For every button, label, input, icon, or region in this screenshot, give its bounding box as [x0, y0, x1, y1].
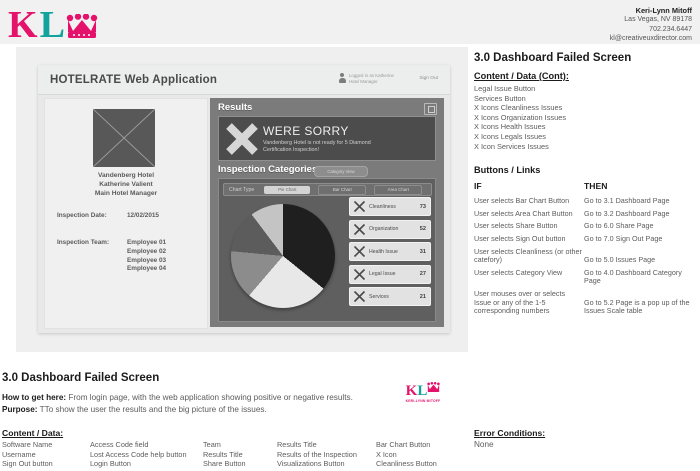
table-row: User mouses over or selects Issue or any… — [474, 290, 692, 316]
hotel-info-panel: Vandenberg Hotel Katherine Valient Main … — [44, 98, 208, 329]
x-icon — [353, 245, 366, 258]
results-title: Results — [218, 102, 252, 113]
list-item: X Icons Legals Issues — [474, 132, 692, 142]
contact-phone: 702.234.6447 — [610, 25, 692, 34]
category-label: Health Issue — [369, 249, 420, 255]
crown-icon — [66, 14, 98, 40]
list-item: Results Title — [203, 450, 273, 460]
contact-city: Las Vegas, NV 89178 — [610, 15, 692, 24]
then-cell: Go to 3.2 Dashboard Page — [584, 210, 692, 219]
how-to-get-here: How to get here: From login page, with t… — [2, 392, 353, 403]
purpose-text: TTo show the user the results and the bi… — [40, 405, 267, 414]
inspection-team-list: Employee 01 Employee 02 Employee 03 Empl… — [127, 239, 166, 274]
team-member: Employee 01 — [127, 239, 166, 248]
list-item: Bar Chart Button — [376, 440, 468, 450]
team-member: Employee 03 — [127, 257, 166, 266]
x-icon — [353, 200, 366, 213]
contact-info: Keri-Lynn Mitoff Las Vegas, NV 89178 702… — [610, 6, 692, 44]
logged-in-user: Logged in as Katherine Hotel Manager — [339, 73, 394, 84]
pie-chart-button[interactable]: Pie Chart — [264, 186, 310, 194]
table-row: User selects Sign Out button Go to 7.0 S… — [474, 235, 692, 244]
category-view-button[interactable]: Category View — [314, 166, 368, 177]
person-icon — [339, 73, 346, 84]
content-column-4: Results Title Results of the Inspection … — [277, 440, 373, 469]
contact-name: Keri-Lynn Mitoff — [610, 6, 692, 15]
if-cell: User selects Area Chart Button — [474, 210, 584, 219]
x-icon — [353, 268, 366, 281]
category-value: 52 — [420, 226, 426, 232]
list-item: Login Button — [90, 459, 194, 469]
category-value: 73 — [420, 204, 426, 210]
then-cell: Go to 5.2 Page is a pop up of the Issues… — [584, 299, 692, 316]
list-item: Share Button — [203, 459, 273, 469]
if-cell: User selects Share Button — [474, 222, 584, 231]
bottom-heading: 3.0 Dashboard Failed Screen — [2, 372, 159, 384]
category-label: Services — [369, 294, 420, 300]
spec-heading: 3.0 Dashboard Failed Screen — [474, 52, 692, 64]
purpose-line: Purpose: TTo show the user the results a… — [2, 404, 267, 415]
inspection-team-label: Inspection Team: — [57, 239, 109, 246]
category-item-organization[interactable]: Organization 52 — [349, 220, 431, 239]
list-item: X Icon — [376, 450, 468, 460]
error-conditions-value: None — [474, 440, 494, 449]
list-item: Software Name — [2, 440, 90, 450]
how-label: How to get here: — [2, 393, 66, 402]
list-item: Visualizations Button — [277, 459, 373, 469]
category-item-services[interactable]: Services 21 — [349, 287, 431, 306]
chart-toolbar: Chart Type Pie Chart Bar Chart Area Char… — [223, 183, 432, 196]
list-item: X Icon Services Issues — [474, 142, 692, 152]
list-item: Cleanliness Button — [376, 459, 468, 469]
hotel-identity: Vandenberg Hotel Katherine Valient Main … — [45, 171, 207, 198]
then-cell: Go to 7.0 Sign Out Page — [584, 235, 692, 244]
x-icon — [225, 123, 259, 155]
category-value: 27 — [420, 271, 426, 277]
list-item: X Icons Health Issues — [474, 122, 692, 132]
results-panel: Results WERE SORRY Vandenberg Hotel is n… — [210, 98, 444, 327]
failure-subline-2: Certification Inspection! — [263, 147, 319, 153]
category-legend-list: Cleanliness 73 Organization 52 Health Is… — [349, 197, 431, 310]
share-icon[interactable] — [424, 103, 437, 115]
table-row: User selects Bar Chart Button Go to 3.1 … — [474, 197, 692, 206]
category-value: 21 — [420, 294, 426, 300]
error-conditions-heading: Error Conditions: — [474, 428, 545, 438]
spec-buttons-heading: Buttons / Links — [474, 165, 692, 175]
team-member: Employee 04 — [127, 265, 166, 274]
mockup-application-window: HOTELRATE Web Application Logged in as K… — [38, 65, 450, 333]
if-cell: User selects Sign Out button — [474, 235, 584, 244]
content-column-3: Team Results Title Share Button — [203, 440, 273, 469]
spec-content-heading: Content / Data (Cont): — [474, 71, 692, 81]
manager-role: Main Hotel Manager — [45, 189, 207, 198]
if-cell: User selects Category View — [474, 269, 584, 286]
content-column-5: Bar Chart Button X Icon Cleanliness Butt… — [376, 440, 468, 469]
inspection-categories-title: Inspection Categories — [218, 164, 317, 175]
inspection-date-label: Inspection Date: — [57, 212, 107, 219]
list-item: X Icons Organization Issues — [474, 113, 692, 123]
pie-chart-slices[interactable] — [231, 204, 335, 308]
then-cell: Go to 3.1 Dashboard Page — [584, 197, 692, 206]
then-cell: Go to 5.0 Issues Page — [584, 256, 692, 265]
list-item: Legal Issue Button — [474, 84, 692, 94]
sign-out-button[interactable]: Sign Out — [419, 76, 438, 81]
category-item-health-issue[interactable]: Health Issue 31 — [349, 242, 431, 261]
chart-panel: Chart Type Pie Chart Bar Chart Area Char… — [218, 178, 436, 322]
inspection-date-value: 12/02/2015 — [127, 212, 159, 219]
list-item: Services Button — [474, 94, 692, 104]
category-item-cleanliness[interactable]: Cleanliness 73 — [349, 197, 431, 216]
then-cell: Go to 4.0 Dashboard Category Page — [584, 269, 692, 286]
failure-headline: WERE SORRY — [263, 124, 371, 138]
manager-name: Katherine Valient — [45, 180, 207, 189]
list-item: Results of the Inspection — [277, 450, 373, 460]
category-value: 31 — [420, 249, 426, 255]
logged-in-line2: Hotel Manager — [349, 79, 378, 84]
area-chart-button[interactable]: Area Chart — [374, 185, 422, 195]
then-column-header: THEN — [584, 181, 607, 191]
pie-chart[interactable] — [225, 198, 345, 315]
list-item: Team — [203, 440, 273, 450]
spec-content-list: Legal Issue Button Services Button X Ico… — [474, 84, 692, 151]
category-label: Cleanliness — [369, 204, 420, 210]
list-item: X Icons Cleanliness Issues — [474, 103, 692, 113]
content-column-1: Software Name Username Sign Out button — [2, 440, 90, 469]
watermark-tagline: KERI-LYNN MITOFF — [406, 399, 441, 403]
table-row: User selects Area Chart Button Go to 3.2… — [474, 210, 692, 219]
failure-banner: WERE SORRY Vandenberg Hotel is not ready… — [218, 116, 436, 161]
hotel-name: Vandenberg Hotel — [45, 171, 207, 180]
category-label: Legal Issue — [369, 271, 420, 277]
mockup-wrapper: HOTELRATE Web Application Logged in as K… — [16, 47, 468, 352]
content-column-2: Access Code field Lost Access Code help … — [90, 440, 194, 469]
failure-subline-1: Vandenberg Hotel is not ready for 5 Diam… — [263, 140, 371, 146]
if-then-table: IF THEN User selects Bar Chart Button Go… — [474, 181, 692, 316]
how-text: From login page, with the web applicatio… — [68, 393, 352, 402]
page-header: K L Keri-Lynn Mitoff Las Vegas, NV 89178… — [0, 0, 700, 44]
spec-column: 3.0 Dashboard Failed Screen Content / Da… — [474, 52, 692, 320]
crown-icon — [427, 380, 440, 398]
table-row: User selects Cleanliness (or other catef… — [474, 248, 692, 265]
watermark-letter-k: K — [406, 385, 418, 398]
x-icon — [353, 290, 366, 303]
list-item: Access Code field — [90, 440, 194, 450]
contact-email: kl@creativeuxdirector.com — [610, 34, 692, 43]
brand-logo: K L — [8, 2, 98, 42]
watermark-letter-l: L — [417, 385, 427, 398]
image-placeholder-icon — [93, 109, 155, 167]
if-cell: User mouses over or selects Issue or any… — [474, 290, 584, 316]
table-row: User selects Category View Go to 4.0 Das… — [474, 269, 692, 286]
bottom-content-heading: Content / Data: — [2, 428, 63, 438]
list-item: Results Title — [277, 440, 373, 450]
logged-in-line1: Logged in as Katherine — [349, 73, 394, 78]
category-item-legal-issue[interactable]: Legal Issue 27 — [349, 265, 431, 284]
if-cell: User selects Cleanliness (or other catef… — [474, 248, 584, 265]
list-item: Sign Out button — [2, 459, 90, 469]
then-cell: Go to 6.0 Share Page — [584, 222, 692, 231]
x-icon — [353, 223, 366, 236]
table-row: User selects Share Button Go to 6.0 Shar… — [474, 222, 692, 231]
logo-letter-k: K — [8, 8, 38, 42]
list-item: Lost Access Code help button — [90, 450, 194, 460]
bar-chart-button[interactable]: Bar Chart — [318, 185, 366, 195]
category-label: Organization — [369, 226, 420, 232]
app-title: HOTELRATE Web Application — [50, 74, 217, 86]
logo-letter-l: L — [40, 8, 65, 42]
list-item: Username — [2, 450, 90, 460]
if-cell: User selects Bar Chart Button — [474, 197, 584, 206]
chart-type-label: Chart Type — [229, 187, 254, 193]
team-member: Employee 02 — [127, 248, 166, 257]
if-column-header: IF — [474, 181, 584, 191]
purpose-label: Purpose: — [2, 405, 38, 414]
app-titlebar: HOTELRATE Web Application Logged in as K… — [38, 65, 450, 95]
brand-watermark: K L KERI-LYNN MITOFF — [401, 380, 445, 404]
